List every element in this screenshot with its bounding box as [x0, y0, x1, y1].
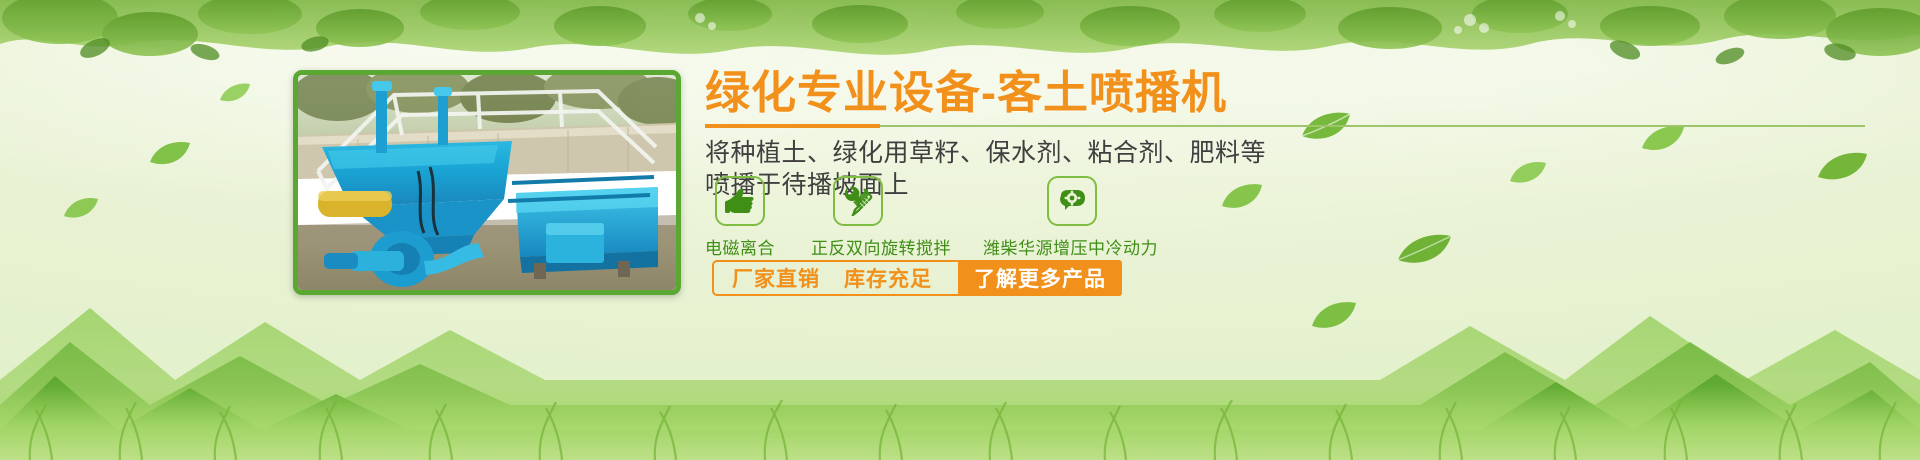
cta-tag-2: 库存充足 — [838, 262, 950, 294]
product-photo — [298, 75, 676, 290]
page-title: 绿化专业设备-客土喷播机 — [705, 68, 1865, 118]
floating-leaf-icon — [62, 196, 100, 226]
wrench-screwdriver-icon — [843, 186, 873, 216]
grass-foreground — [0, 340, 1920, 460]
subtitle-line-1: 将种植土、绿化用草籽、保水剂、粘合剂、肥料等 — [705, 137, 1865, 169]
title-divider — [705, 124, 1865, 128]
feature-icon-row — [705, 176, 1225, 228]
feature-item-1[interactable] — [715, 176, 765, 226]
feature-item-3[interactable] — [1047, 176, 1097, 226]
feature-item-2[interactable] — [833, 176, 883, 226]
thumbs-up-icon — [725, 187, 755, 215]
product-photo-frame[interactable] — [293, 70, 681, 295]
feature-label-3: 潍柴华源增压中冷动力 — [983, 234, 1158, 259]
feature-list: 电磁离合 正反双向旋转搅拌 潍柴华源增压中冷动力 — [705, 176, 1225, 260]
feature-label-2: 正反双向旋转搅拌 — [811, 234, 951, 259]
divider-orange-line — [705, 124, 880, 128]
learn-more-button[interactable]: 了解更多产品 — [958, 260, 1122, 296]
floating-leaf-icon — [148, 140, 192, 173]
floating-leaf-icon — [218, 82, 252, 109]
promo-banner: 绿化专业设备-客土喷播机 将种植土、绿化用草籽、保水剂、粘合剂、肥料等 喷播于待… — [0, 0, 1920, 460]
feature-label-1: 电磁离合 — [705, 234, 775, 259]
feature-label-row: 电磁离合 正反双向旋转搅拌 潍柴华源增压中冷动力 — [705, 234, 1225, 260]
floating-leaf-icon — [1310, 300, 1358, 337]
engine-gear-icon — [1057, 187, 1087, 215]
cta-tag-1: 厂家直销 — [714, 262, 838, 294]
floating-leaf-icon — [1395, 232, 1453, 273]
cta-bar: 厂家直销 库存充足 了解更多产品 — [712, 260, 1122, 296]
